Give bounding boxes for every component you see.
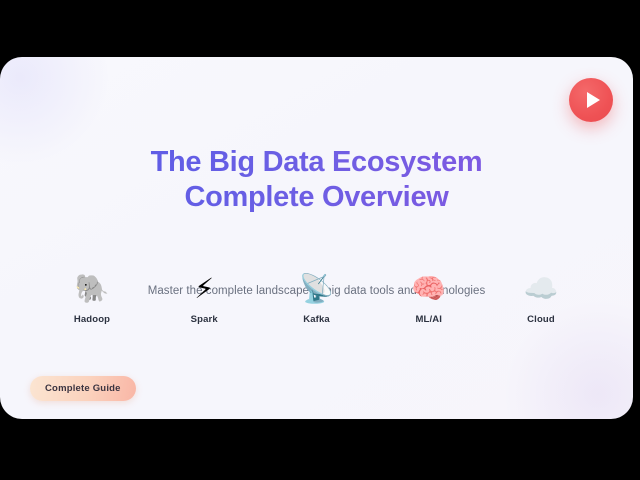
video-frame: The Big Data Ecosystem Complete Overview… (0, 0, 640, 480)
lightning-bolt-icon: ⚡ (158, 272, 250, 306)
technology-list: 🐘 Hadoop ⚡ Spark 📡 Kafka 🧠 ML/AI ☁️ Clou… (46, 272, 587, 325)
elephant-icon: 🐘 (46, 272, 138, 306)
brain-icon: 🧠 (383, 272, 475, 306)
letterbox-top (0, 0, 640, 57)
letterbox-bottom (0, 419, 640, 480)
tech-item-cloud[interactable]: ☁️ Cloud (495, 272, 587, 325)
tech-label-spark: Spark (158, 314, 250, 325)
tech-label-cloud: Cloud (495, 314, 587, 325)
tech-item-ml-ai[interactable]: 🧠 ML/AI (383, 272, 475, 325)
satellite-antenna-icon: 📡 (271, 272, 363, 306)
play-button[interactable] (569, 78, 613, 122)
tech-label-kafka: Kafka (271, 314, 363, 325)
status-badge[interactable]: Complete Guide (30, 376, 136, 401)
play-triangle-icon (587, 92, 600, 108)
slide-card: The Big Data Ecosystem Complete Overview… (0, 57, 633, 419)
tech-item-hadoop[interactable]: 🐘 Hadoop (46, 272, 138, 325)
tech-item-kafka[interactable]: 📡 Kafka (271, 272, 363, 325)
tech-label-hadoop: Hadoop (46, 314, 138, 325)
title-line-1: The Big Data Ecosystem (0, 145, 633, 180)
cloud-icon: ☁️ (495, 272, 587, 306)
page-title: The Big Data Ecosystem Complete Overview (0, 145, 633, 216)
tech-label-ml-ai: ML/AI (383, 314, 475, 325)
title-line-2: Complete Overview (0, 180, 633, 215)
tech-item-spark[interactable]: ⚡ Spark (158, 272, 250, 325)
